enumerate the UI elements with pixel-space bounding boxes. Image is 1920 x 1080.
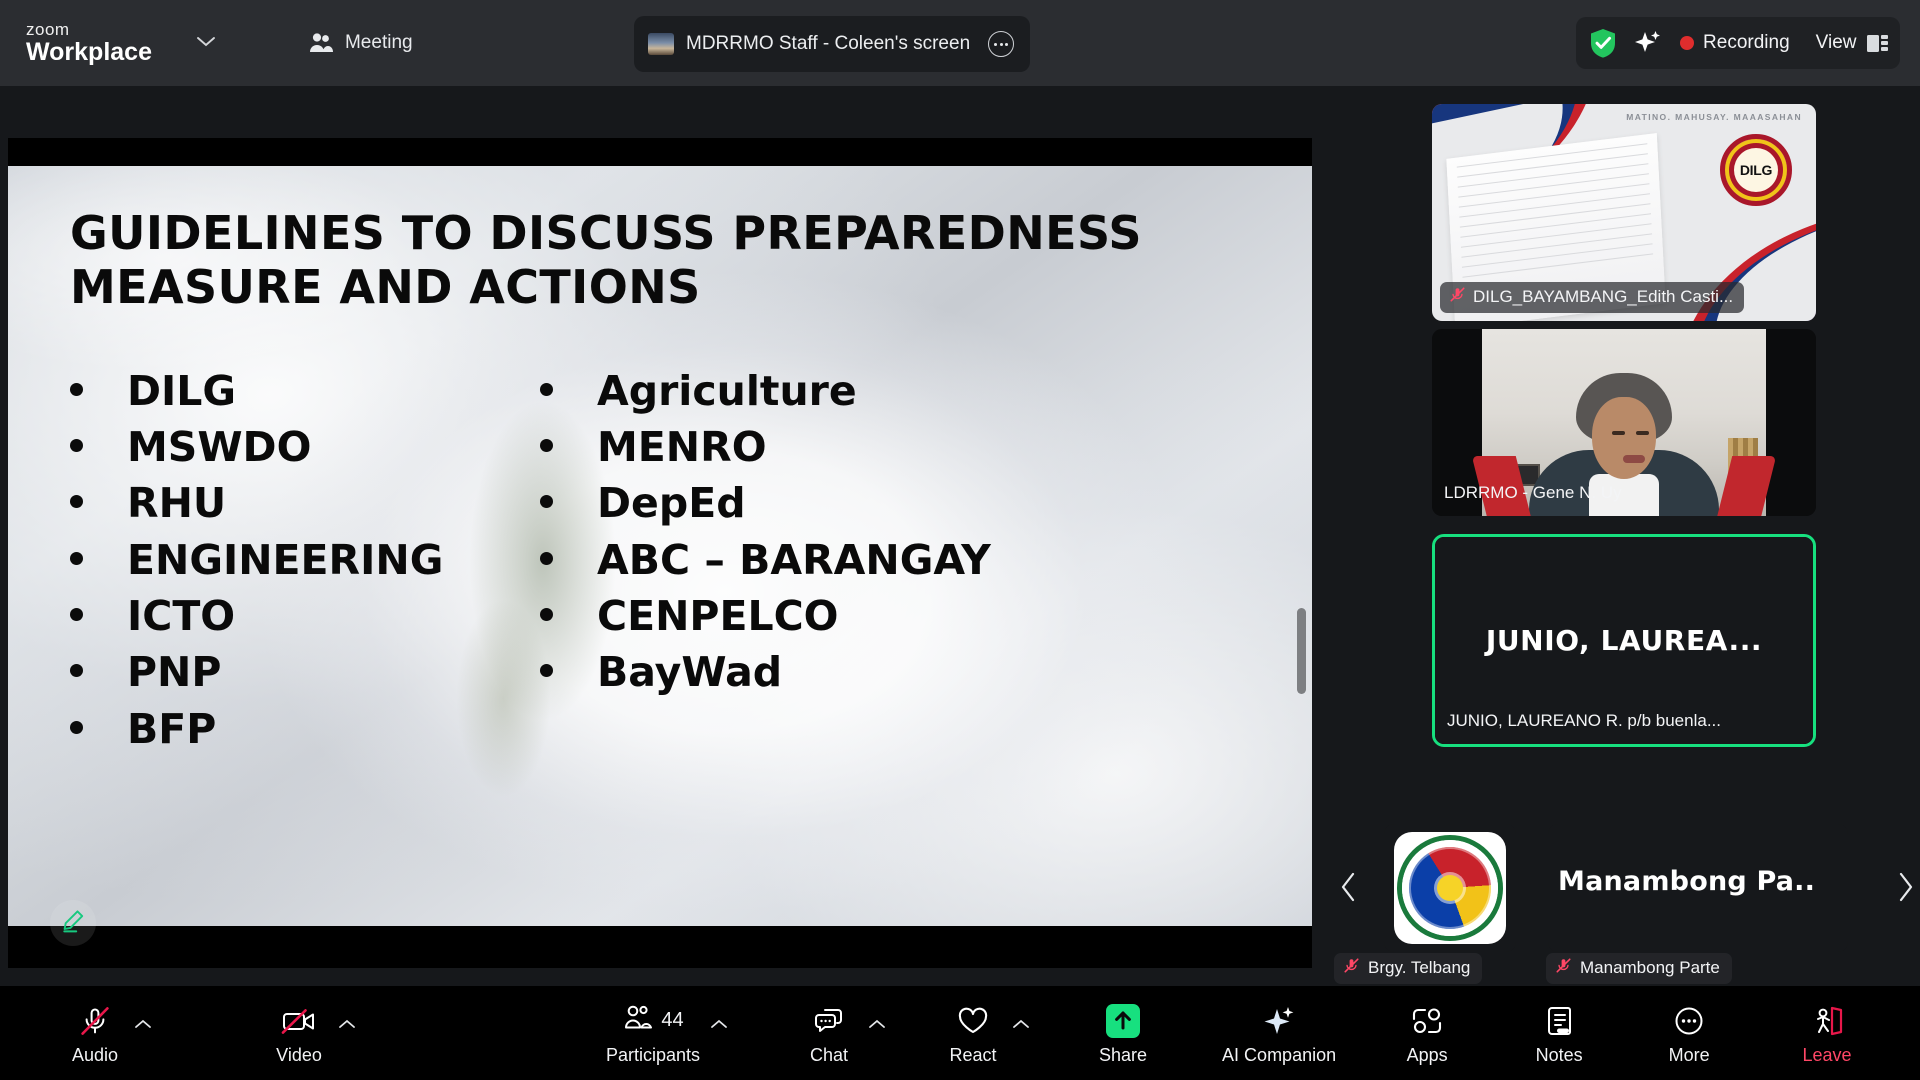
audio-label: Audio <box>72 1045 118 1066</box>
shared-screen-tab[interactable]: MDRRMO Staff - Coleen's screen <box>634 16 1030 72</box>
bullet-label: BayWad <box>597 648 782 696</box>
view-label: View <box>1816 32 1857 54</box>
bullet-dot-icon <box>70 664 83 677</box>
bullet-label: DILG <box>127 367 236 415</box>
more-label: More <box>1669 1045 1710 1066</box>
chat-options-chevron-icon[interactable] <box>868 1017 886 1034</box>
list-item: Agriculture <box>540 367 1160 415</box>
participant-name-badge: JUNIO, LAUREANO R. p/b buenla... <box>1443 707 1732 736</box>
participant-filmstrip: Brgy. Telbang Manambong Pa.. Manambong P… <box>1320 800 1920 986</box>
presentation-slide: GUIDELINES TO DISCUSS PREPAREDNESS MEASU… <box>8 166 1312 926</box>
video-control-group: Video <box>270 1001 356 1066</box>
ai-companion-button[interactable]: AI Companion <box>1222 1001 1336 1066</box>
layout-view-icon <box>1867 35 1889 52</box>
title-bar: zoom Workplace Meeting MDRRMO Staff - Co… <box>0 0 1920 86</box>
participant-name-badge: DILG_BAYAMBANG_Edith Casti... <box>1440 282 1744 313</box>
bullet-label: ICTO <box>127 592 235 640</box>
bullet-dot-icon <box>70 608 83 621</box>
bullet-label: BFP <box>127 705 216 753</box>
list-item: DILG <box>70 367 540 415</box>
list-item: BayWad <box>540 648 1160 696</box>
apps-label: Apps <box>1407 1045 1448 1066</box>
share-button[interactable]: Share <box>1094 1001 1152 1066</box>
leave-door-icon <box>1810 1001 1844 1041</box>
meeting-toolbar: Audio Video <box>0 986 1920 1080</box>
bullet-dot-icon <box>540 383 553 396</box>
filmstrip-participant-name: Manambong Parte <box>1580 958 1720 978</box>
filmstrip-name-badge: Manambong Parte <box>1546 953 1732 984</box>
bullet-dot-icon <box>70 439 83 452</box>
audio-options-chevron-icon[interactable] <box>134 1017 152 1034</box>
bullet-label: PNP <box>127 648 221 696</box>
video-label: Video <box>276 1045 322 1066</box>
leave-label: Leave <box>1802 1045 1851 1066</box>
participants-count: 44 <box>661 1009 683 1032</box>
list-item: ENGINEERING <box>70 536 540 584</box>
leave-button[interactable]: Leave <box>1798 1001 1856 1066</box>
camera-off-icon <box>280 1001 318 1041</box>
bullet-label: ABC – BARANGAY <box>597 536 991 584</box>
tab-meeting-label: Meeting <box>345 32 413 54</box>
shared-screen-viewport[interactable]: GUIDELINES TO DISCUSS PREPAREDNESS MEASU… <box>8 138 1312 968</box>
zoom-workplace-brand[interactable]: zoom Workplace <box>0 21 216 65</box>
bullet-label: ENGINEERING <box>127 536 443 584</box>
more-dots-icon <box>1673 1001 1705 1041</box>
ai-sparkle-icon <box>1262 1001 1296 1041</box>
bullet-dot-icon <box>70 552 83 565</box>
recording-indicator[interactable]: Recording <box>1680 32 1790 54</box>
list-item: PNP <box>70 648 540 696</box>
slide-bullet-column-left: DILG MSWDO RHU <box>70 367 540 762</box>
participant-tile[interactable]: MATINO. MAHUSAY. MAAASAHAN DILG DILG_BAY… <box>1432 104 1816 321</box>
microphone-muted-icon <box>1449 286 1466 308</box>
more-options-icon[interactable] <box>988 31 1014 57</box>
list-item: MSWDO <box>70 423 540 471</box>
shared-screen-scrollbar[interactable] <box>1297 608 1306 694</box>
participant-name: DILG_BAYAMBANG_Edith Casti... <box>1473 287 1733 307</box>
dilg-seal-text: DILG <box>1740 162 1772 178</box>
chat-label: Chat <box>810 1045 848 1066</box>
apps-icon <box>1411 1001 1443 1041</box>
zoom-meeting-window: zoom Workplace Meeting MDRRMO Staff - Co… <box>0 0 1920 1080</box>
list-item: ABC – BARANGAY <box>540 536 1160 584</box>
chevron-left-icon[interactable] <box>1336 870 1362 904</box>
brand-workplace-label: Workplace <box>26 40 152 65</box>
list-item: DepEd <box>540 479 1160 527</box>
bullet-label: Agriculture <box>597 367 857 415</box>
heart-react-icon <box>957 1001 989 1041</box>
list-item: RHU <box>70 479 540 527</box>
filmstrip-participant-name: Brgy. Telbang <box>1368 958 1470 978</box>
bullet-dot-icon <box>540 552 553 565</box>
dilg-tagline: MATINO. MAHUSAY. MAAASAHAN <box>1626 112 1802 122</box>
share-screen-icon <box>1106 1004 1140 1038</box>
participant-tile-active-speaker[interactable]: JUNIO, LAUREA... JUNIO, LAUREANO R. p/b … <box>1432 534 1816 747</box>
bullet-label: RHU <box>127 479 226 527</box>
chat-bubble-icon <box>813 1001 845 1041</box>
react-label: React <box>950 1045 997 1066</box>
filmstrip-display-name: Manambong Pa.. <box>1558 866 1848 897</box>
react-button[interactable]: React <box>944 1001 1002 1066</box>
bullet-label: CENPELCO <box>597 592 839 640</box>
share-thumbnail <box>648 33 674 55</box>
ai-companion-label: AI Companion <box>1222 1045 1336 1066</box>
chevron-down-icon[interactable] <box>196 33 216 53</box>
participant-name: LDRRMO - Gene N. Uy <box>1444 483 1622 503</box>
annotate-button[interactable] <box>50 900 96 946</box>
slide-title: GUIDELINES TO DISCUSS PREPAREDNESS MEASU… <box>70 206 1160 315</box>
list-item: MENRO <box>540 423 1160 471</box>
shared-content-stage: GUIDELINES TO DISCUSS PREPAREDNESS MEASU… <box>0 86 1320 986</box>
chevron-right-icon[interactable] <box>1892 870 1918 904</box>
bullet-dot-icon <box>70 383 83 396</box>
security-shield-icon[interactable] <box>1588 27 1618 59</box>
notes-label: Notes <box>1536 1045 1583 1066</box>
bullet-dot-icon <box>70 721 83 734</box>
participant-name: JUNIO, LAUREANO R. p/b buenla... <box>1447 711 1721 731</box>
dilg-seal-logo: DILG <box>1720 134 1792 206</box>
participants-label: Participants <box>606 1045 700 1066</box>
apps-button[interactable]: Apps <box>1398 1001 1456 1066</box>
bullet-dot-icon <box>540 439 553 452</box>
microphone-muted-icon <box>78 1001 112 1041</box>
microphone-muted-icon <box>1343 957 1360 979</box>
more-button[interactable]: More <box>1660 1001 1718 1066</box>
view-button[interactable]: View <box>1816 32 1888 54</box>
bullet-label: MSWDO <box>127 423 311 471</box>
participants-control-group: 44 Participants <box>606 1001 728 1066</box>
list-item: ICTO <box>70 592 540 640</box>
filmstrip-tile[interactable]: Manambong Pa.. <box>1548 824 1848 952</box>
list-item: CENPELCO <box>540 592 1160 640</box>
filmstrip-tile[interactable] <box>1384 824 1516 952</box>
slide-bullet-column-right: Agriculture MENRO DepEd <box>540 367 1160 762</box>
bullet-dot-icon <box>70 495 83 508</box>
react-options-chevron-icon[interactable] <box>1012 1017 1030 1034</box>
ai-sparkle-icon[interactable] <box>1632 28 1662 58</box>
audio-button[interactable]: Audio <box>66 1001 124 1066</box>
bullet-dot-icon <box>540 664 553 677</box>
titlebar-right-controls: Recording View <box>1576 17 1900 69</box>
list-item: BFP <box>70 705 540 753</box>
audio-control-group: Audio <box>66 1001 152 1066</box>
chat-button[interactable]: Chat <box>800 1001 858 1066</box>
tab-meeting[interactable]: Meeting <box>308 32 413 54</box>
participants-icon <box>622 1005 654 1036</box>
participant-name-badge: LDRRMO - Gene N. Uy <box>1440 479 1633 508</box>
bullet-dot-icon <box>540 495 553 508</box>
pencil-annotate-icon <box>60 908 86 939</box>
filmstrip-name-badge: Brgy. Telbang <box>1334 953 1482 984</box>
recording-label: Recording <box>1703 32 1790 54</box>
chat-control-group: Chat <box>800 1001 886 1066</box>
share-label: Share <box>1099 1045 1147 1066</box>
recording-dot-icon <box>1680 36 1694 50</box>
bullet-dot-icon <box>540 608 553 621</box>
participants-options-chevron-icon[interactable] <box>710 1017 728 1034</box>
notes-button[interactable]: Notes <box>1530 1001 1588 1066</box>
video-options-chevron-icon[interactable] <box>338 1017 356 1034</box>
people-icon <box>308 32 334 54</box>
video-button[interactable]: Video <box>270 1001 328 1066</box>
participant-display-name: JUNIO, LAUREA... <box>1486 624 1762 657</box>
shared-screen-title: MDRRMO Staff - Coleen's screen <box>686 33 970 55</box>
bullet-label: DepEd <box>597 479 746 527</box>
react-control-group: React <box>944 1001 1030 1066</box>
participants-button[interactable]: 44 Participants <box>606 1001 700 1066</box>
microphone-muted-icon <box>1555 957 1572 979</box>
notes-icon <box>1544 1001 1574 1041</box>
participant-tile[interactable]: LDRRMO - Gene N. Uy <box>1432 329 1816 516</box>
brand-zoom-label: zoom <box>26 21 152 38</box>
bullet-label: MENRO <box>597 423 767 471</box>
barangay-telbang-seal <box>1394 832 1506 944</box>
